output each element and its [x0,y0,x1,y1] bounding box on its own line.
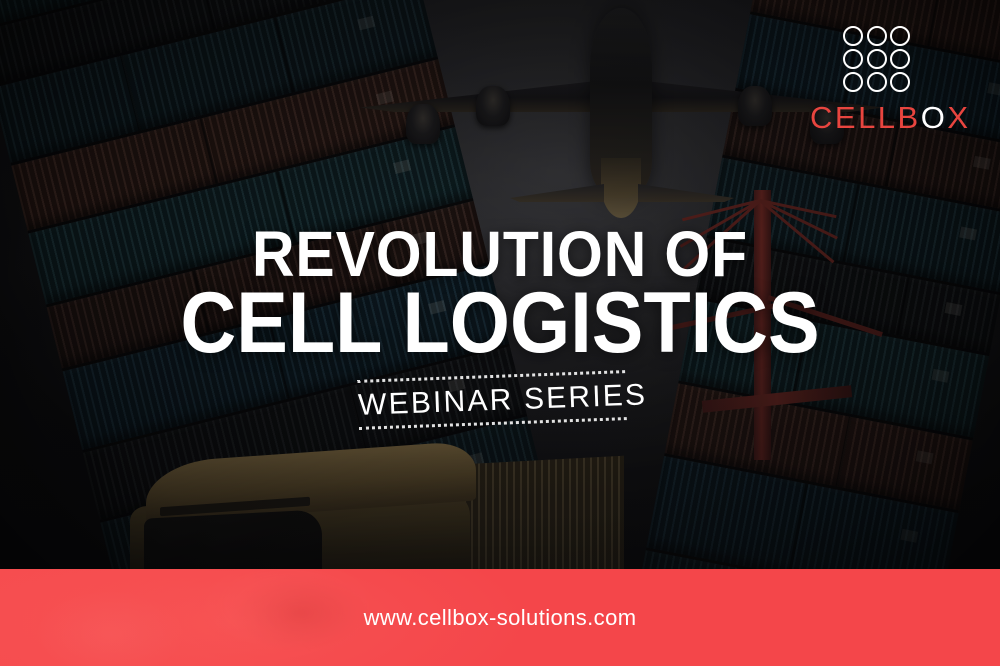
logo-circle [843,49,863,69]
logo-circle [843,72,863,92]
logo-wordmark-highlight: O [921,100,948,135]
website-url[interactable]: www.cellbox-solutions.com [0,569,1000,666]
logo-circle [843,26,863,46]
nine-circles-icon [843,26,911,92]
webinar-banner: CELLBOX REVOLUTION OF CELL LOGISTICS WEB… [0,0,1000,666]
webinar-series-badge: WEBINAR SERIES [357,361,627,436]
footer-bar: www.cellbox-solutions.com [0,569,1000,666]
logo-circle [867,26,887,46]
logo-wordmark: CELLBOX [810,102,944,133]
logo-wordmark-prefix: CELLB [810,100,921,135]
logo-circle [890,72,910,92]
headline-block: REVOLUTION OF CELL LOGISTICS [0,222,1000,366]
headline-line-2: CELL LOGISTICS [50,280,950,366]
badge-label: WEBINAR SERIES [358,379,627,422]
logo-circle [890,49,910,69]
logo-circle [867,72,887,92]
cellbox-logo[interactable]: CELLBOX [810,26,944,133]
logo-wordmark-suffix: X [947,100,970,135]
logo-circle [890,26,910,46]
logo-circle [867,49,887,69]
